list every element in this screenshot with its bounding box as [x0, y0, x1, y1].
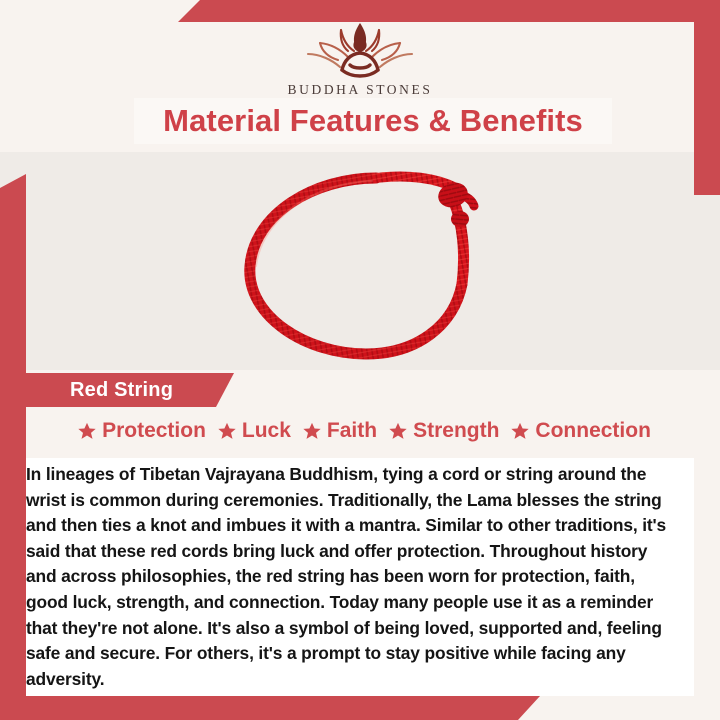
star-icon — [388, 421, 408, 441]
product-label: Red String — [70, 379, 173, 402]
feature-item: Protection — [77, 419, 206, 443]
star-icon — [510, 421, 530, 441]
star-icon — [217, 421, 237, 441]
feature-item: Connection — [510, 419, 651, 443]
description-panel: In lineages of Tibetan Vajrayana Buddhis… — [26, 458, 694, 696]
brand-logo: BUDDHA STONES — [0, 18, 720, 98]
feature-label: Connection — [535, 419, 651, 443]
product-image-red-string-bracelet — [222, 156, 498, 370]
feature-label: Strength — [413, 419, 499, 443]
product-label-ribbon: Red String — [26, 373, 234, 407]
infographic-page: BUDDHA STONES Material Features & Benefi… — [0, 0, 720, 720]
lotus-meditation-icon — [294, 18, 426, 80]
feature-label: Faith — [327, 419, 377, 443]
decorative-frame-left — [0, 174, 26, 720]
feature-item: Faith — [302, 419, 377, 443]
feature-item: Luck — [217, 419, 291, 443]
feature-item: Strength — [388, 419, 499, 443]
description-text: In lineages of Tibetan Vajrayana Buddhis… — [26, 462, 678, 692]
feature-label: Luck — [242, 419, 291, 443]
star-icon — [77, 421, 97, 441]
page-title: Material Features & Benefits — [163, 103, 583, 139]
star-icon — [302, 421, 322, 441]
feature-list: Protection Luck Faith Strength Connectio — [34, 419, 694, 443]
brand-name: BUDDHA STONES — [0, 82, 720, 98]
feature-label: Protection — [102, 419, 206, 443]
page-title-banner: Material Features & Benefits — [134, 98, 612, 144]
